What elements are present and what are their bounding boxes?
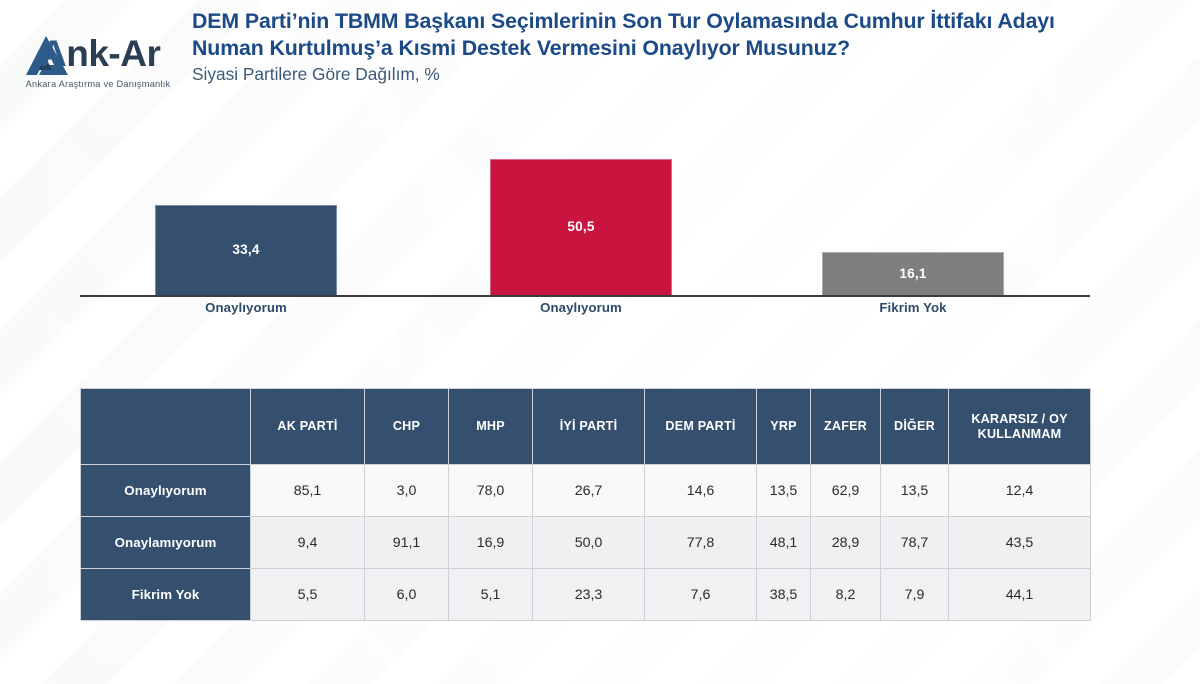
- table-cell: 16,9: [449, 517, 533, 569]
- table-col-chp: CHP: [365, 389, 449, 465]
- bar-chart-plot-area: 33,4 Onaylıyorum 50,5 Onaylıyorum 16,1 F…: [80, 132, 1090, 295]
- data-table-container: AK PARTİ CHP MHP İYİ PARTİ DEM PARTİ YRP…: [80, 388, 1090, 621]
- table-col-diger: DİĞER: [881, 389, 949, 465]
- header: Ank-Ar Ankara Araştırma ve Danışmanlık D…: [0, 0, 1200, 126]
- table-cell: 9,4: [251, 517, 365, 569]
- bar-category-label: Onaylıyorum: [450, 300, 712, 315]
- logo-tagline: Ankara Araştırma ve Danışmanlık: [14, 79, 182, 89]
- table-row: Onaylamıyorum 9,4 91,1 16,9 50,0 77,8 48…: [81, 517, 1091, 569]
- table-cell: 91,1: [365, 517, 449, 569]
- table-cell: 14,6: [645, 465, 757, 517]
- table-cell: 62,9: [811, 465, 881, 517]
- table-col-kararsiz-oy-kullanmam: KARARSIZ / OY KULLANMAM: [949, 389, 1091, 465]
- bar-group-onayliyorum-1: 33,4 Onaylıyorum: [155, 132, 337, 295]
- bar-fikrim-yok[interactable]: 16,1: [822, 252, 1004, 295]
- table-corner-cell: [81, 389, 251, 465]
- bar-chart: 33,4 Onaylıyorum 50,5 Onaylıyorum 16,1 F…: [80, 132, 1090, 312]
- bar-category-label: Fikrim Yok: [782, 300, 1044, 315]
- table-cell: 48,1: [757, 517, 811, 569]
- bar-category-label: Onaylıyorum: [115, 300, 377, 315]
- table-cell: 44,1: [949, 569, 1091, 621]
- table-cell: 12,4: [949, 465, 1091, 517]
- table-cell: 23,3: [533, 569, 645, 621]
- table-cell: 5,5: [251, 569, 365, 621]
- brand-logo: Ank-Ar Ankara Araştırma ve Danışmanlık: [14, 33, 182, 89]
- table-header: AK PARTİ CHP MHP İYİ PARTİ DEM PARTİ YRP…: [81, 389, 1091, 465]
- table-row: Onaylıyorum 85,1 3,0 78,0 26,7 14,6 13,5…: [81, 465, 1091, 517]
- table-row-label-fikrim-yok: Fikrim Yok: [81, 569, 251, 621]
- table-cell: 26,7: [533, 465, 645, 517]
- table-row: Fikrim Yok 5,5 6,0 5,1 23,3 7,6 38,5 8,2…: [81, 569, 1091, 621]
- bar-onayliyorum-1[interactable]: 33,4: [155, 205, 337, 295]
- table-cell: 85,1: [251, 465, 365, 517]
- table-cell: 7,6: [645, 569, 757, 621]
- table-cell: 6,0: [365, 569, 449, 621]
- bar-value-label: 16,1: [899, 266, 926, 281]
- table-cell: 8,2: [811, 569, 881, 621]
- page-title: DEM Parti’nin TBMM Başkanı Seçimlerinin …: [192, 8, 1127, 61]
- logo-wordmark: Ank-Ar: [14, 33, 182, 77]
- table-cell: 43,5: [949, 517, 1091, 569]
- table-col-ak-parti: AK PARTİ: [251, 389, 365, 465]
- bar-group-fikrim-yok: 16,1 Fikrim Yok: [822, 132, 1004, 295]
- bar-value-label: 50,5: [567, 219, 594, 234]
- table-header-row: AK PARTİ CHP MHP İYİ PARTİ DEM PARTİ YRP…: [81, 389, 1091, 465]
- table-cell: 28,9: [811, 517, 881, 569]
- table-cell: 50,0: [533, 517, 645, 569]
- table-cell: 78,0: [449, 465, 533, 517]
- bar-onayliyorum-2[interactable]: 50,5: [490, 159, 672, 295]
- table-body: Onaylıyorum 85,1 3,0 78,0 26,7 14,6 13,5…: [81, 465, 1091, 621]
- table-cell: 38,5: [757, 569, 811, 621]
- table-cell: 77,8: [645, 517, 757, 569]
- table-col-yrp: YRP: [757, 389, 811, 465]
- x-axis-line: [80, 295, 1090, 297]
- table-cell: 3,0: [365, 465, 449, 517]
- table-col-iyi-parti: İYİ PARTİ: [533, 389, 645, 465]
- table-cell: 5,1: [449, 569, 533, 621]
- title-block: DEM Parti’nin TBMM Başkanı Seçimlerinin …: [192, 8, 1152, 85]
- distribution-table: AK PARTİ CHP MHP İYİ PARTİ DEM PARTİ YRP…: [80, 388, 1091, 621]
- infographic-page: Ank-Ar Ankara Araştırma ve Danışmanlık D…: [0, 0, 1200, 684]
- table-row-label-onayliyorum: Onaylıyorum: [81, 465, 251, 517]
- logo-text: Ank-Ar: [40, 33, 160, 75]
- table-cell: 13,5: [757, 465, 811, 517]
- table-col-zafer: ZAFER: [811, 389, 881, 465]
- page-subtitle: Siyasi Partilere Göre Dağılım, %: [192, 63, 1152, 85]
- table-cell: 78,7: [881, 517, 949, 569]
- table-cell: 7,9: [881, 569, 949, 621]
- logo-text-rest: nk-Ar: [66, 33, 160, 74]
- bar-group-onayliyorum-2: 50,5 Onaylıyorum: [490, 132, 672, 295]
- table-col-dem-parti: DEM PARTİ: [645, 389, 757, 465]
- table-cell: 13,5: [881, 465, 949, 517]
- logo-text-a: A: [40, 33, 66, 74]
- table-row-label-onaylamiyorum: Onaylamıyorum: [81, 517, 251, 569]
- bar-value-label: 33,4: [232, 242, 259, 257]
- table-col-mhp: MHP: [449, 389, 533, 465]
